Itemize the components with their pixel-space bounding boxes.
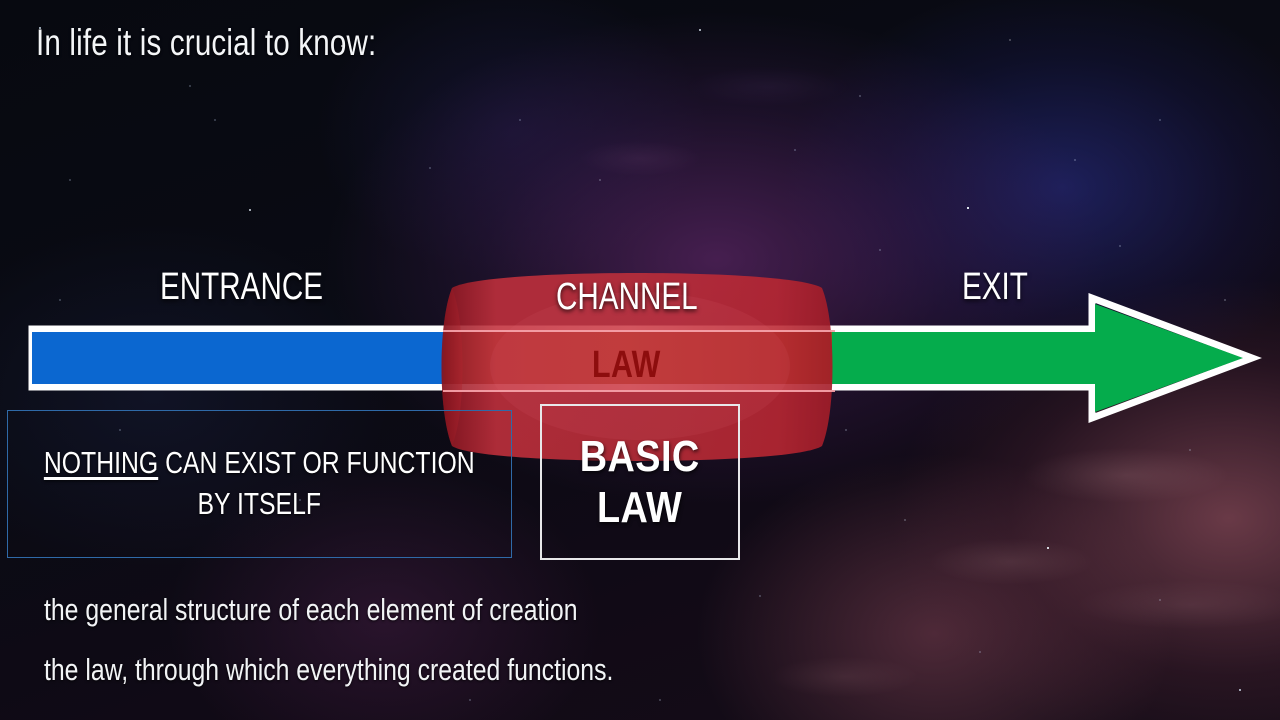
basic-law-line-2: LAW xyxy=(597,483,682,532)
footer-line-2: the law, through which everything create… xyxy=(44,652,764,688)
arrow-segment-exit xyxy=(832,304,1243,412)
nothing-callout-box: NOTHING CAN EXIST OR FUNCTION BY ITSELF xyxy=(7,410,512,558)
page-title: In life it is crucial to know: xyxy=(36,22,376,64)
stage-label-exit: EXIT xyxy=(962,266,1028,309)
stage-label-entrance: ENTRANCE xyxy=(160,266,323,309)
basic-law-line-1: BASIC xyxy=(580,432,700,481)
basic-law-callout-box: BASIC LAW xyxy=(540,404,740,560)
nothing-rest: CAN EXIST OR FUNCTION xyxy=(158,445,474,480)
footer-line-1: the general structure of each element of… xyxy=(44,592,764,628)
nothing-callout-line-2: BY ITSELF xyxy=(198,484,322,525)
nothing-callout-line-1: NOTHING CAN EXIST OR FUNCTION xyxy=(44,443,475,484)
channel-law-label: LAW xyxy=(592,344,661,387)
footer-text: the general structure of each element of… xyxy=(44,592,944,712)
stage-label-channel: CHANNEL xyxy=(556,276,698,319)
arrow-segment-entrance xyxy=(32,332,444,384)
cylinder-band-top-edge xyxy=(443,330,835,332)
cylinder-band-bottom-edge xyxy=(443,390,835,392)
slide-canvas: In life it is crucial to know: xyxy=(0,0,1280,720)
nothing-emphasis: NOTHING xyxy=(44,445,158,480)
